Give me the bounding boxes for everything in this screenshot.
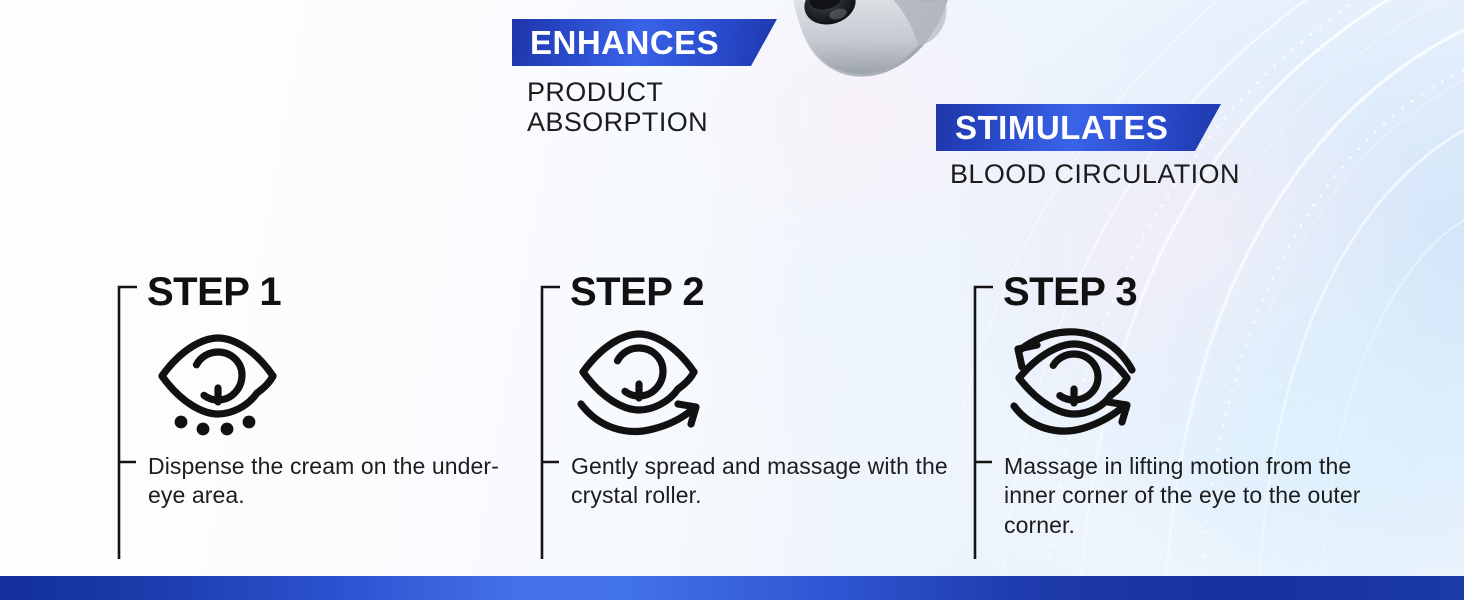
benefit-subtitle-product-absorption: PRODUCT ABSORPTION bbox=[527, 77, 708, 137]
bottom-accent-bar bbox=[0, 576, 1464, 600]
eye-with-dots-icon bbox=[152, 328, 282, 438]
step-description: Dispense the cream on the under-eye area… bbox=[148, 452, 528, 511]
bracket-decoration bbox=[116, 285, 138, 561]
benefit-banner-label: STIMULATES bbox=[955, 109, 1168, 147]
step-title: STEP 1 bbox=[147, 272, 281, 312]
benefit-banner-enhances: ENHANCES bbox=[512, 19, 777, 66]
steps-row: STEP 1 Dispense the cream on the under-e… bbox=[0, 272, 1464, 562]
step-item-3: STEP 3 Massage in lifting motion from th… bbox=[972, 272, 1392, 562]
step-description: Massage in lifting motion from the inner… bbox=[1004, 452, 1384, 540]
benefit-subtitle-blood-circulation: BLOOD CIRCULATION bbox=[950, 159, 1240, 189]
eye-with-rotating-arrows-icon bbox=[1008, 328, 1138, 438]
step-item-1: STEP 1 Dispense the cream on the under-e… bbox=[116, 272, 536, 562]
step-title: STEP 2 bbox=[570, 272, 704, 312]
benefit-banner-label: ENHANCES bbox=[530, 24, 719, 62]
step-item-2: STEP 2 Gently spread and massage with th… bbox=[539, 272, 959, 562]
bracket-decoration bbox=[972, 285, 994, 561]
eye-with-sweep-arrow-icon bbox=[575, 328, 705, 438]
step-description: Gently spread and massage with the cryst… bbox=[571, 452, 951, 511]
benefit-banner-stimulates: STIMULATES bbox=[936, 104, 1221, 151]
bracket-decoration bbox=[539, 285, 561, 561]
step-title: STEP 3 bbox=[1003, 272, 1137, 312]
instruction-banner: ENHANCES PRODUCT ABSORPTION STIMULATES B… bbox=[0, 0, 1464, 600]
roller-head-image bbox=[766, 0, 966, 114]
